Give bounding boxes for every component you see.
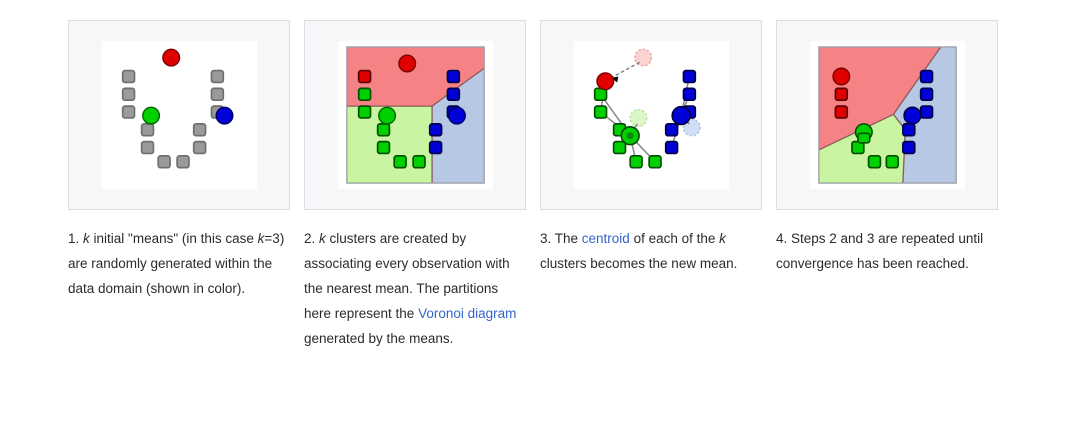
caption-segment: 3. The — [540, 231, 582, 246]
caption-2-text: 2. k clusters are created by associating… — [304, 231, 516, 346]
caption-4: 4. Steps 2 and 3 are repeated until conv… — [776, 226, 1000, 276]
thumbnail-frame-1[interactable] — [68, 20, 290, 210]
caption-link[interactable]: Voronoi diagram — [418, 306, 516, 321]
thumbnail-frame-3[interactable] — [540, 20, 762, 210]
caption-2: 2. k clusters are created by associating… — [304, 226, 528, 351]
caption-segment: generated by the means. — [304, 331, 453, 346]
caption-link[interactable]: centroid — [582, 231, 630, 246]
italic-k: k — [719, 231, 726, 246]
figure-centroid-update[interactable] — [574, 41, 729, 189]
caption-segment: 2. — [304, 231, 319, 246]
caption-segment: 4. Steps 2 and 3 are repeated until conv… — [776, 231, 983, 271]
caption-3-text: 3. The centroid of each of the k cluster… — [540, 231, 737, 271]
mean-marker-red — [162, 49, 179, 66]
gallery-cell-4: 4. Steps 2 and 3 are repeated until conv… — [776, 20, 1000, 351]
mean-marker-green — [378, 107, 395, 124]
caption-1-text: 1. k initial "means" (in this case k=3) … — [68, 231, 284, 296]
figure-initial-means-scatter[interactable] — [102, 41, 257, 189]
caption-segment: initial "means" (in this case — [90, 231, 258, 246]
ghost-mean-green — [630, 110, 647, 127]
caption-segment: 1. — [68, 231, 83, 246]
observation-markers-gray — [122, 71, 223, 168]
kmeans-step-gallery: 1. k initial "means" (in this case k=3) … — [68, 20, 1000, 351]
caption-4-text: 4. Steps 2 and 3 are repeated until conv… — [776, 231, 983, 271]
thumbnail-frame-2[interactable] — [304, 20, 526, 210]
new-mean-marker-red — [597, 73, 614, 90]
mean-marker-blue — [216, 107, 233, 124]
centroid-update-svg-3 — [574, 41, 729, 189]
mean-markers — [142, 49, 232, 124]
gallery-cell-1: 1. k initial "means" (in this case k=3) … — [68, 20, 292, 351]
caption-3: 3. The centroid of each of the k cluster… — [540, 226, 764, 276]
caption-segment: clusters becomes the new mean. — [540, 256, 737, 271]
mean-marker-red — [398, 55, 415, 72]
scatter-svg-1 — [102, 41, 257, 189]
final-mean-marker-red — [833, 68, 850, 85]
voronoi-svg-2 — [338, 41, 493, 189]
gallery-cell-3: 3. The centroid of each of the k cluster… — [540, 20, 764, 351]
italic-k: k — [83, 231, 90, 246]
mean-marker-blue — [448, 107, 465, 124]
converged-svg-4 — [810, 41, 965, 189]
mean-marker-green — [142, 107, 159, 124]
italic-k: k — [319, 231, 326, 246]
gallery-cell-2: 2. k clusters are created by associating… — [304, 20, 528, 351]
new-mean-marker-blue — [672, 107, 690, 125]
figure-converged-clusters[interactable] — [810, 41, 965, 189]
thumbnail-frame-4[interactable] — [776, 20, 998, 210]
figure-voronoi-assignment[interactable] — [338, 41, 493, 189]
caption-segment: of each of the — [630, 231, 719, 246]
final-mean-marker-blue — [904, 107, 921, 124]
caption-1: 1. k initial "means" (in this case k=3) … — [68, 226, 292, 301]
